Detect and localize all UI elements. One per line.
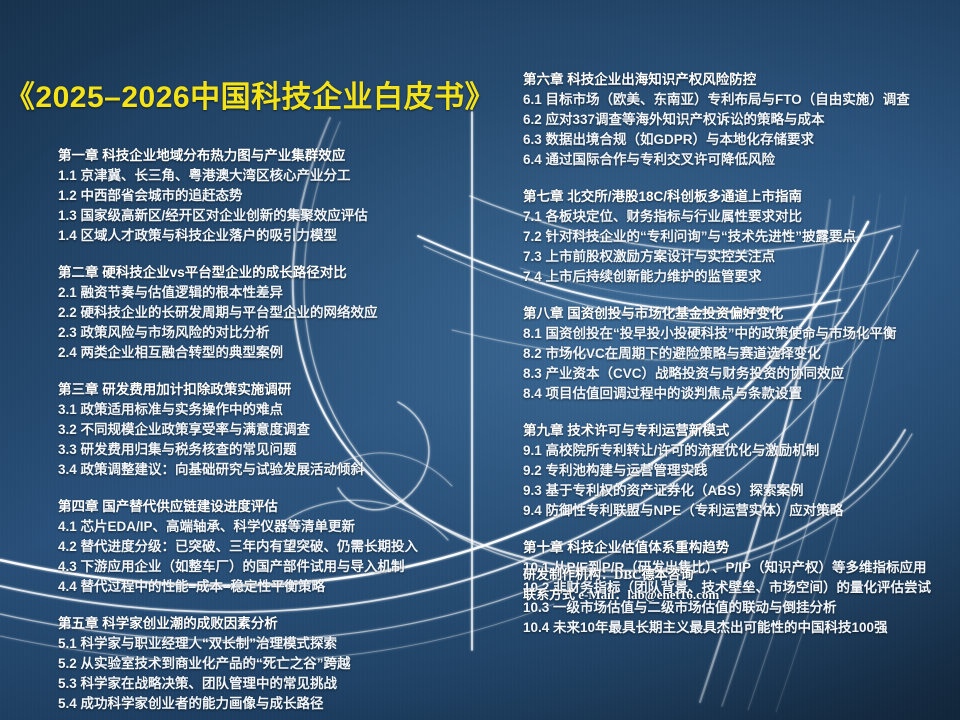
chapter-title: 第二章 硬科技企业vs平台型企业的成长路径对比 — [58, 263, 458, 283]
chapter-block: 第四章 国产替代供应链建设进度评估 4.1 芯片EDA/IP、高端轴承、科学仪器… — [58, 497, 458, 597]
chapter-item: 2.1 融资节奏与估值逻辑的根本性差异 — [58, 283, 458, 303]
chapter-item: 1.2 中西部省会城市的追赶态势 — [58, 186, 458, 206]
chapter-item: 7.3 上市前股权激励方案设计与实控关注点 — [523, 247, 953, 267]
chapter-title: 第八章 国资创投与市场化基金投资偏好变化 — [523, 304, 953, 324]
chapter-title: 第六章 科技企业出海知识产权风险防控 — [523, 70, 953, 90]
chapter-item: 4.4 替代过程中的性能–成本–稳定性平衡策略 — [58, 577, 458, 597]
footer-credits: 研发制作机构：DBC德本咨询 联系方式 e-Mail：lab@enet16.co… — [523, 565, 719, 605]
chapter-item: 4.3 下游应用企业（如整车厂）的国产部件试用与导入机制 — [58, 557, 458, 577]
chapter-item: 3.3 研发费用归集与税务核查的常见问题 — [58, 440, 458, 460]
chapter-item: 3.2 不同规模企业政策享受率与满意度调查 — [58, 420, 458, 440]
whitepaper-slide: 《2025–2026中国科技企业白皮书》 第一章 科技企业地域分布热力图与产业集… — [0, 0, 960, 720]
toc-right-column: 第六章 科技企业出海知识产权风险防控 6.1 目标市场（欧美、东南亚）专利布局与… — [523, 70, 953, 638]
chapter-item: 6.2 应对337调查等海外知识产权诉讼的策略与成本 — [523, 110, 953, 130]
chapter-item: 1.4 区域人才政策与科技企业落户的吸引力模型 — [58, 226, 458, 246]
chapter-item: 5.2 从实验室技术到商业化产品的“死亡之谷”跨越 — [58, 654, 458, 674]
chapter-item: 2.3 政策风险与市场风险的对比分析 — [58, 323, 458, 343]
chapter-item: 6.1 目标市场（欧美、东南亚）专利布局与FTO（自由实施）调查 — [523, 90, 953, 110]
chapter-item: 5.3 科学家在战略决策、团队管理中的常见挑战 — [58, 674, 458, 694]
chapter-item: 10.4 未来10年最具长期主义最具杰出可能性的中国科技100强 — [523, 618, 953, 638]
chapter-item: 2.4 两类企业相互融合转型的典型案例 — [58, 343, 458, 363]
page-title: 《2025–2026中国科技企业白皮书》 — [0, 72, 500, 116]
chapter-item: 8.1 国资创投在“投早投小投硬科技”中的政策使命与市场化平衡 — [523, 324, 953, 344]
chapter-item: 8.3 产业资本（CVC）战略投资与财务投资的协同效应 — [523, 364, 953, 384]
chapter-block: 第九章 技术许可与专利运营新模式 9.1 高校院所专利转让/许可的流程优化与激励… — [523, 421, 953, 521]
chapter-item: 5.4 成功科学家创业者的能力画像与成长路径 — [58, 694, 458, 714]
chapter-block: 第一章 科技企业地域分布热力图与产业集群效应 1.1 京津冀、长三角、粤港澳大湾… — [58, 146, 458, 246]
chapter-item: 8.4 项目估值回调过程中的谈判焦点与条款设置 — [523, 384, 953, 404]
chapter-title: 第一章 科技企业地域分布热力图与产业集群效应 — [58, 146, 458, 166]
chapter-block: 第六章 科技企业出海知识产权风险防控 6.1 目标市场（欧美、东南亚）专利布局与… — [523, 70, 953, 170]
chapter-item: 2.2 硬科技企业的长研发周期与平台型企业的网络效应 — [58, 303, 458, 323]
chapter-item: 8.2 市场化VC在周期下的避险策略与赛道选择变化 — [523, 344, 953, 364]
chapter-title: 第五章 科学家创业潮的成败因素分析 — [58, 614, 458, 634]
chapter-item: 1.3 国家级高新区/经开区对企业创新的集聚效应评估 — [58, 206, 458, 226]
footer-contact: 联系方式 e-Mail：lab@enet16.com — [523, 585, 719, 605]
chapter-block: 第二章 硬科技企业vs平台型企业的成长路径对比 2.1 融资节奏与估值逻辑的根本… — [58, 263, 458, 363]
chapter-item: 3.4 政策调整建议：向基础研究与试验发展活动倾斜 — [58, 460, 458, 480]
chapter-item: 9.4 防御性专利联盟与NPE（专利运营实体）应对策略 — [523, 501, 953, 521]
chapter-item: 9.2 专利池构建与运营管理实践 — [523, 461, 953, 481]
chapter-title: 第四章 国产替代供应链建设进度评估 — [58, 497, 458, 517]
chapter-item: 5.1 科学家与职业经理人“双长制”治理模式探索 — [58, 634, 458, 654]
chapter-item: 9.1 高校院所专利转让/许可的流程优化与激励机制 — [523, 441, 953, 461]
chapter-item: 1.1 京津冀、长三角、粤港澳大湾区核心产业分工 — [58, 166, 458, 186]
chapter-title: 第三章 研发费用加计扣除政策实施调研 — [58, 380, 458, 400]
chapter-item: 7.4 上市后持续创新能力维护的监管要求 — [523, 267, 953, 287]
chapter-item: 4.2 替代进度分级：已突破、三年内有望突破、仍需长期投入 — [58, 537, 458, 557]
chapter-block: 第八章 国资创投与市场化基金投资偏好变化 8.1 国资创投在“投早投小投硬科技”… — [523, 304, 953, 404]
chapter-item: 6.3 数据出境合规（如GDPR）与本地化存储要求 — [523, 130, 953, 150]
toc-left-column: 第一章 科技企业地域分布热力图与产业集群效应 1.1 京津冀、长三角、粤港澳大湾… — [58, 146, 458, 714]
chapter-item: 6.4 通过国际合作与专利交叉许可降低风险 — [523, 150, 953, 170]
chapter-item: 9.3 基于专利权的资产证券化（ABS）探索案例 — [523, 481, 953, 501]
chapter-block: 第七章 北交所/港股18C/科创板多通道上市指南 7.1 各板块定位、财务指标与… — [523, 187, 953, 287]
chapter-item: 3.1 政策适用标准与实务操作中的难点 — [58, 400, 458, 420]
chapter-item: 4.1 芯片EDA/IP、高端轴承、科学仪器等清单更新 — [58, 517, 458, 537]
chapter-item: 7.1 各板块定位、财务指标与行业属性要求对比 — [523, 207, 953, 227]
chapter-block: 第三章 研发费用加计扣除政策实施调研 3.1 政策适用标准与实务操作中的难点 3… — [58, 380, 458, 480]
chapter-block: 第五章 科学家创业潮的成败因素分析 5.1 科学家与职业经理人“双长制”治理模式… — [58, 614, 458, 714]
chapter-item: 7.2 针对科技企业的“专利问询”与“技术先进性”披露要点 — [523, 227, 953, 247]
footer-organization: 研发制作机构：DBC德本咨询 — [523, 565, 719, 585]
chapter-title: 第十章 科技企业估值体系重构趋势 — [523, 538, 953, 558]
chapter-title: 第九章 技术许可与专利运营新模式 — [523, 421, 953, 441]
chapter-title: 第七章 北交所/港股18C/科创板多通道上市指南 — [523, 187, 953, 207]
